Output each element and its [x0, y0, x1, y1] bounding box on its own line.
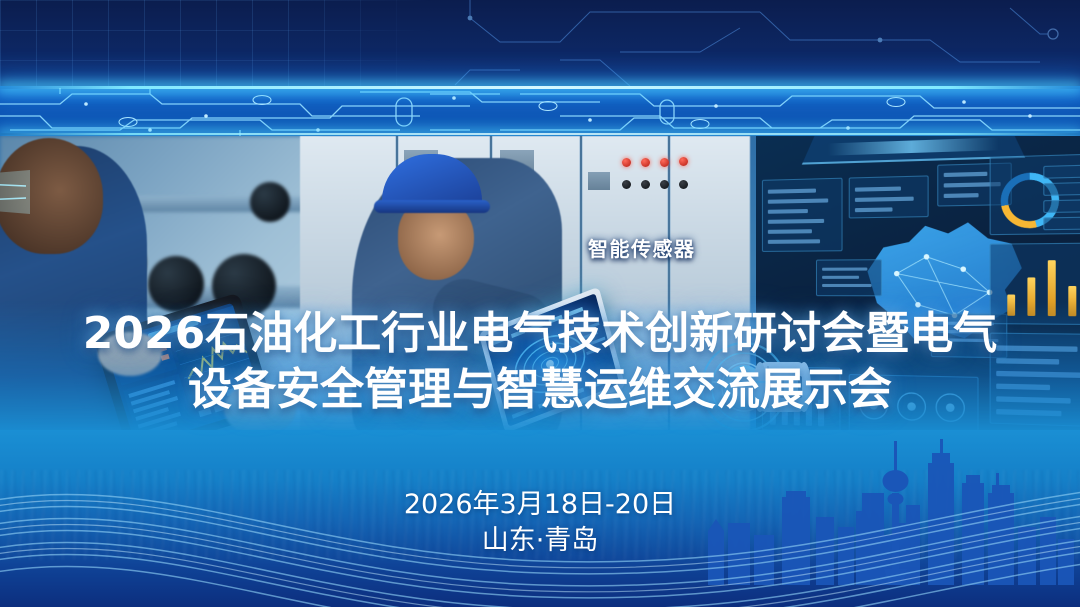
bottom-glow-line [0, 133, 1080, 135]
circuit-traces-icon [0, 86, 1080, 138]
title-line-2: 设备安全管理与智慧运维交流展示会 [0, 362, 1080, 418]
legend-chip [1043, 199, 1080, 213]
legend-chip [1043, 165, 1080, 179]
poster-canvas: 智能传感器 [0, 0, 1080, 607]
title-line-1: 2026石油化工行业电气技术创新研讨会暨电气 [0, 306, 1080, 362]
top-circuit-traces-icon [0, 0, 1080, 95]
indicator-led [660, 158, 669, 167]
panel-switch [641, 180, 650, 189]
indicator-led [622, 158, 631, 167]
legend-chip [1043, 182, 1080, 196]
indicator-led [641, 158, 650, 167]
poster-meta: 2026年3月18日-20日 山东·青岛 [0, 487, 1080, 559]
panel-switch [679, 180, 688, 189]
top-glow-line [0, 86, 1080, 89]
sensor-callout-label: 智能传感器 [588, 233, 696, 262]
event-location: 山东·青岛 [0, 523, 1080, 559]
panel-switch [660, 180, 669, 189]
circuit-band [0, 86, 1080, 138]
panel-switch [622, 180, 631, 189]
indicator-led [679, 157, 688, 166]
legend-chip [1043, 217, 1080, 231]
sensor-light-beams-icon [0, 152, 80, 232]
safety-helmet-brim [374, 200, 490, 213]
event-date: 2026年3月18日-20日 [0, 487, 1080, 523]
poster-title: 2026石油化工行业电气技术创新研讨会暨电气 设备安全管理与智慧运维交流展示会 [0, 306, 1080, 418]
